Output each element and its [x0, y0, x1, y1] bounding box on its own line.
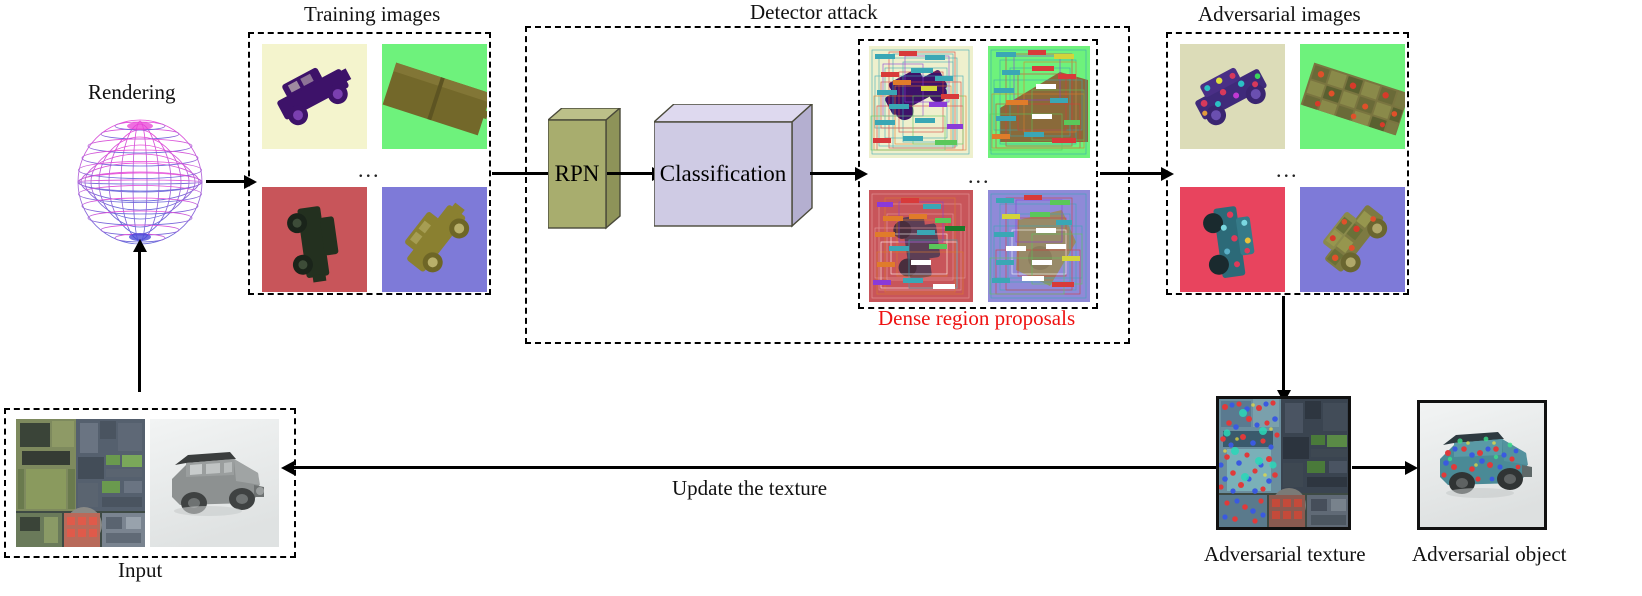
- rpn-label: RPN: [548, 120, 606, 228]
- training-thumb-3: [262, 187, 367, 292]
- proposal-thumb-2: [988, 46, 1090, 158]
- proposal-thumb-3: [869, 190, 973, 302]
- detector-attack-label: Detector attack: [750, 2, 878, 23]
- rendering-label: Rendering: [88, 82, 175, 103]
- update-the-texture-label: Update the texture: [672, 478, 827, 499]
- adversarial-thumb-3: [1180, 187, 1285, 292]
- proposals-ellipsis: ...: [968, 163, 991, 189]
- training-ellipsis: ...: [358, 157, 381, 183]
- training-thumb-4: [382, 187, 487, 292]
- arrow-proposals-to-adversarial-line: [1100, 172, 1164, 175]
- arrow-texture-to-input-head: [281, 461, 294, 475]
- arrow-input-to-rendering-line: [138, 250, 141, 392]
- arrow-rendering-to-training-line: [206, 180, 248, 183]
- arrow-texture-to-object-line: [1352, 466, 1408, 469]
- training-thumb-2: [382, 44, 487, 149]
- arrow-adversarial-to-texture-line: [1282, 296, 1285, 392]
- training-images-label: Training images: [304, 4, 440, 25]
- adversarial-thumb-1: [1180, 44, 1285, 149]
- arrow-texture-to-input-line: [292, 466, 1220, 469]
- dense-region-proposals-label: Dense region proposals: [878, 308, 1075, 329]
- adversarial-object-label: Adversarial object: [1412, 544, 1567, 565]
- arrow-classification-to-proposals-line: [810, 172, 858, 175]
- rpn-node[interactable]: RPN: [548, 108, 628, 232]
- adversarial-thumb-2: [1300, 44, 1405, 149]
- arrow-input-to-rendering-head: [133, 239, 147, 252]
- adversarial-object-image: [1417, 400, 1547, 530]
- adversarial-texture-label: Adversarial texture: [1204, 544, 1366, 565]
- adversarial-thumb-4: [1300, 187, 1405, 292]
- adversarial-texture-image: [1216, 396, 1351, 530]
- proposal-thumb-1: [869, 46, 973, 158]
- adversarial-images-label: Adversarial images: [1198, 4, 1361, 25]
- rendering-sphere: [76, 118, 204, 246]
- proposal-thumb-4: [988, 190, 1090, 302]
- training-thumb-1: [262, 44, 367, 149]
- arrow-rpn-to-classification-line: [607, 172, 655, 175]
- adversarial-ellipsis: ...: [1276, 157, 1299, 183]
- input-texture-image: [16, 419, 145, 547]
- classification-label: Classification: [654, 122, 792, 226]
- classification-node[interactable]: Classification: [654, 104, 814, 232]
- input-label: Input: [118, 560, 162, 581]
- input-object-image: [150, 419, 279, 547]
